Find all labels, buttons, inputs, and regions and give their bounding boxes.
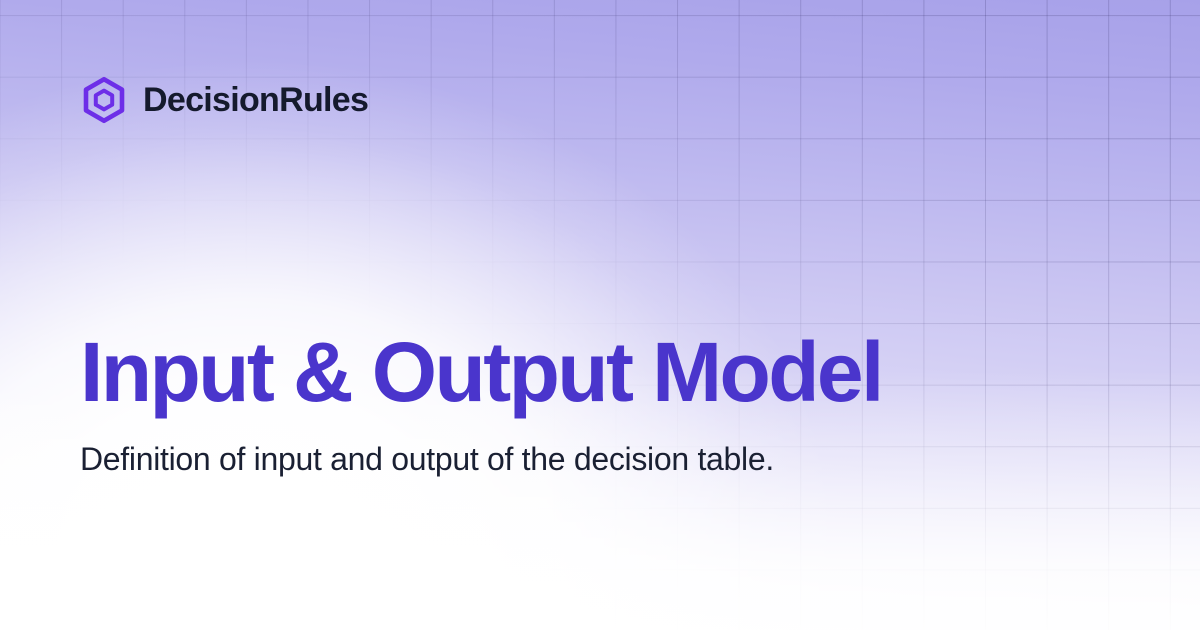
og-card: DecisionRules Input & Output Model Defin… (0, 0, 1200, 630)
hexagon-outline-icon (80, 76, 128, 124)
page-subtitle: Definition of input and output of the de… (80, 438, 870, 480)
brand-lockup: DecisionRules (80, 76, 368, 124)
hero-text-block: Input & Output Model Definition of input… (80, 330, 1080, 480)
brand-name: DecisionRules (143, 83, 368, 117)
card-content: DecisionRules Input & Output Model Defin… (0, 0, 1200, 630)
page-title: Input & Output Model (80, 330, 1080, 416)
